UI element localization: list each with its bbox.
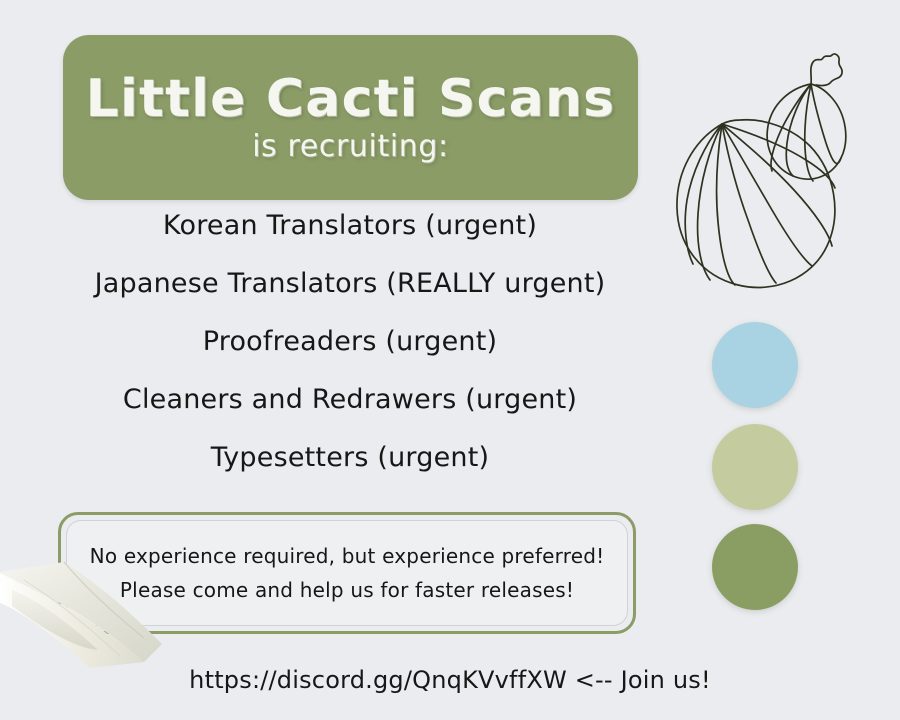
list-item: Proofreaders (urgent)	[203, 328, 497, 355]
note-line-2: Please come and help us for faster relea…	[120, 580, 574, 600]
list-item: Japanese Translators (REALLY urgent)	[95, 270, 606, 297]
note-line-1: No experience required, but experience p…	[90, 546, 605, 566]
list-item: Cleaners and Redrawers (urgent)	[123, 386, 577, 413]
color-swatch-light-blue	[712, 322, 798, 408]
list-item: Typesetters (urgent)	[211, 444, 489, 471]
list-item: Korean Translators (urgent)	[163, 212, 537, 239]
discord-link[interactable]: https://discord.gg/QnqKVvffXW <-- Join u…	[0, 666, 900, 694]
header-banner: Little Cacti Scans is recruiting:	[63, 35, 638, 200]
color-swatch-olive-green	[712, 524, 798, 610]
page-subtitle: is recruiting:	[252, 130, 448, 163]
recruitment-poster: Little Cacti Scans is recruiting:	[0, 0, 900, 720]
cactus-icon	[660, 40, 890, 300]
note-box: No experience required, but experience p…	[58, 512, 636, 634]
color-swatch-sage-green	[712, 424, 798, 510]
roles-list: Korean Translators (urgent) Japanese Tra…	[40, 212, 660, 471]
note-box-inner: No experience required, but experience p…	[66, 520, 628, 626]
page-title: Little Cacti Scans	[86, 72, 616, 127]
